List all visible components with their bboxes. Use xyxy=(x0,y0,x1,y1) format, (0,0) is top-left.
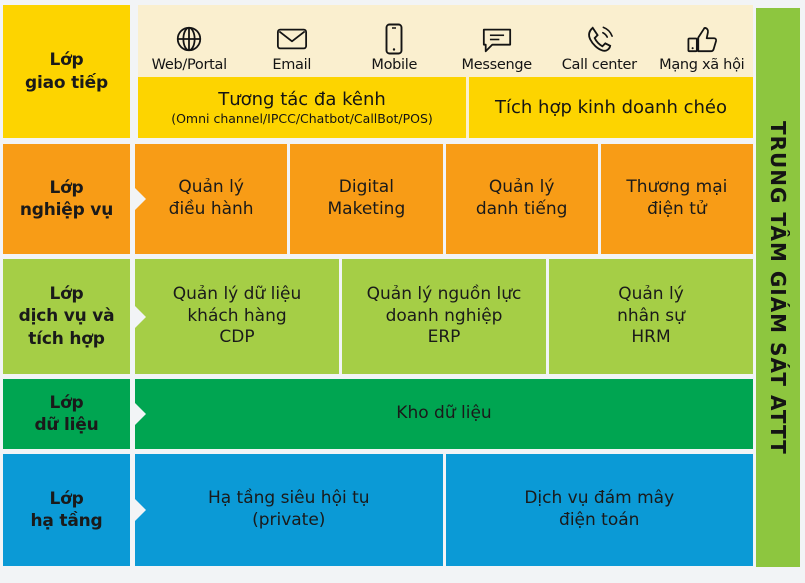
cell-line2: Maketing xyxy=(328,199,406,221)
sidebar-label: TRUNG TÂM GIÁM SÁT ATTT xyxy=(766,121,790,455)
layer-label-line2: dữ liệu xyxy=(34,415,98,435)
business-cell-digital-marketing[interactable]: Digital Maketing xyxy=(290,144,442,254)
channel-item-email[interactable]: Email xyxy=(241,5,344,77)
cell-line2: điện toán xyxy=(559,510,639,532)
layer-label-line3: tích hợp xyxy=(28,329,104,349)
infrastructure-cell-cloud[interactable]: Dịch vụ đám mây điện toán xyxy=(446,454,754,566)
cell-line1: Digital xyxy=(339,177,394,199)
channel-item-call-center[interactable]: Call center xyxy=(548,5,651,77)
cell-line2: điện tử xyxy=(647,199,707,221)
layer-data: Lớp dữ liệu Kho dữ liệu xyxy=(3,379,753,449)
business-cell-reputation[interactable]: Quản lý danh tiếng xyxy=(446,144,598,254)
cell-line1: Quản lý xyxy=(489,177,555,199)
layer-label-data: Lớp dữ liệu xyxy=(3,379,130,449)
cell-line2: điều hành xyxy=(169,199,254,221)
layer-label-line2: nghiệp vụ xyxy=(20,200,113,220)
business-cell-operations[interactable]: Quản lý điều hành xyxy=(135,144,287,254)
business-cell-ecommerce[interactable]: Thương mại điện tử xyxy=(601,144,753,254)
layer-label-line2: hạ tầng xyxy=(31,511,103,531)
data-cell-warehouse[interactable]: Kho dữ liệu xyxy=(135,379,753,449)
layer-label-line1: Lớp xyxy=(49,489,83,509)
cell-line1: Quản lý xyxy=(178,177,244,199)
cell-line1: Kho dữ liệu xyxy=(396,403,491,425)
layer-label-line1: Lớp xyxy=(49,393,83,413)
layer-label-line1: Lớp xyxy=(49,178,83,198)
phone-call-icon xyxy=(584,22,615,56)
channel-item-social[interactable]: Mạng xã hội xyxy=(651,5,754,77)
layer-label-line2: giao tiếp xyxy=(25,73,108,93)
envelope-icon xyxy=(276,22,308,56)
infrastructure-cell-hyperconverged[interactable]: Hạ tầng siêu hội tụ (private) xyxy=(135,454,443,566)
cell-line3: ERP xyxy=(428,327,461,349)
channel-label: Mobile xyxy=(371,57,417,73)
omni-channel-subtitle: (Omni channel/IPCC/Chatbot/CallBot/POS) xyxy=(171,111,433,126)
cell-line3: HRM xyxy=(631,327,670,349)
channel-label: Messenge xyxy=(462,57,532,73)
architecture-diagram: Lớp giao tiếp Web/Portal xyxy=(0,0,805,583)
data-cells: Kho dữ liệu xyxy=(135,379,753,449)
mobile-phone-icon xyxy=(384,22,404,56)
cell-line1: Thương mại xyxy=(626,177,727,199)
cell-line2: doanh nghiệp xyxy=(386,306,503,328)
channel-item-web-portal[interactable]: Web/Portal xyxy=(138,5,241,77)
omni-channel-box[interactable]: Tương tác đa kênh (Omni channel/IPCC/Cha… xyxy=(138,77,466,138)
cell-line3: CDP xyxy=(219,327,254,349)
channel-label: Web/Portal xyxy=(152,57,227,73)
service-cell-cdp[interactable]: Quản lý dữ liệu khách hàng CDP xyxy=(135,259,339,374)
cell-line2: danh tiếng xyxy=(476,199,568,221)
communication-services: Tương tác đa kênh (Omni channel/IPCC/Cha… xyxy=(138,77,753,138)
cell-line2: khách hàng xyxy=(187,306,286,328)
service-cell-erp[interactable]: Quản lý nguồn lực doanh nghiệp ERP xyxy=(342,259,546,374)
layer-label-line2: dịch vụ và xyxy=(19,306,115,326)
layer-communication: Lớp giao tiếp Web/Portal xyxy=(3,5,753,138)
cell-line1: Quản lý xyxy=(618,284,684,306)
cross-sell-label: Tích hợp kinh doanh chéo xyxy=(495,97,727,118)
cell-line2: nhân sự xyxy=(617,306,685,328)
layer-label-communication: Lớp giao tiếp xyxy=(3,5,130,138)
channel-label: Mạng xã hội xyxy=(659,57,744,73)
cell-line1: Quản lý nguồn lực xyxy=(367,284,522,306)
infrastructure-cells: Hạ tầng siêu hội tụ (private) Dịch vụ đá… xyxy=(135,454,753,566)
cell-line2: (private) xyxy=(252,510,325,532)
cell-line1: Hạ tầng siêu hội tụ xyxy=(208,488,370,510)
thumbs-up-icon xyxy=(686,22,718,56)
omni-channel-title: Tương tác đa kênh xyxy=(218,89,386,110)
channel-item-messenger[interactable]: Messenge xyxy=(446,5,549,77)
channel-label: Call center xyxy=(562,57,637,73)
layer-service-integration: Lớp dịch vụ và tích hợp Quản lý dữ liệu … xyxy=(3,259,753,374)
layer-label-line1: Lớp xyxy=(49,50,83,70)
channel-item-mobile[interactable]: Mobile xyxy=(343,5,446,77)
business-cells: Quản lý điều hành Digital Maketing Quản … xyxy=(135,144,753,254)
cross-sell-box[interactable]: Tích hợp kinh doanh chéo xyxy=(469,77,753,138)
layer-label-service-integration: Lớp dịch vụ và tích hợp xyxy=(3,259,130,374)
channel-label: Email xyxy=(272,57,311,73)
channel-list: Web/Portal Email xyxy=(138,5,753,77)
security-operations-center-sidebar[interactable]: TRUNG TÂM GIÁM SÁT ATTT xyxy=(756,8,800,567)
layer-label-business: Lớp nghiệp vụ xyxy=(3,144,130,254)
cell-line1: Quản lý dữ liệu xyxy=(173,284,302,306)
globe-icon xyxy=(174,22,204,56)
communication-panel: Web/Portal Email xyxy=(138,5,753,138)
layer-label-infrastructure: Lớp hạ tầng xyxy=(3,454,130,566)
layer-business: Lớp nghiệp vụ Quản lý điều hành Digital … xyxy=(3,144,753,254)
service-cells: Quản lý dữ liệu khách hàng CDP Quản lý n… xyxy=(135,259,753,374)
layer-label-line1: Lớp xyxy=(49,284,83,304)
service-cell-hrm[interactable]: Quản lý nhân sự HRM xyxy=(549,259,753,374)
layer-infrastructure: Lớp hạ tầng Hạ tầng siêu hội tụ (private… xyxy=(3,454,753,566)
chat-bubble-icon xyxy=(481,22,513,56)
cell-line1: Dịch vụ đám mây xyxy=(524,488,674,510)
